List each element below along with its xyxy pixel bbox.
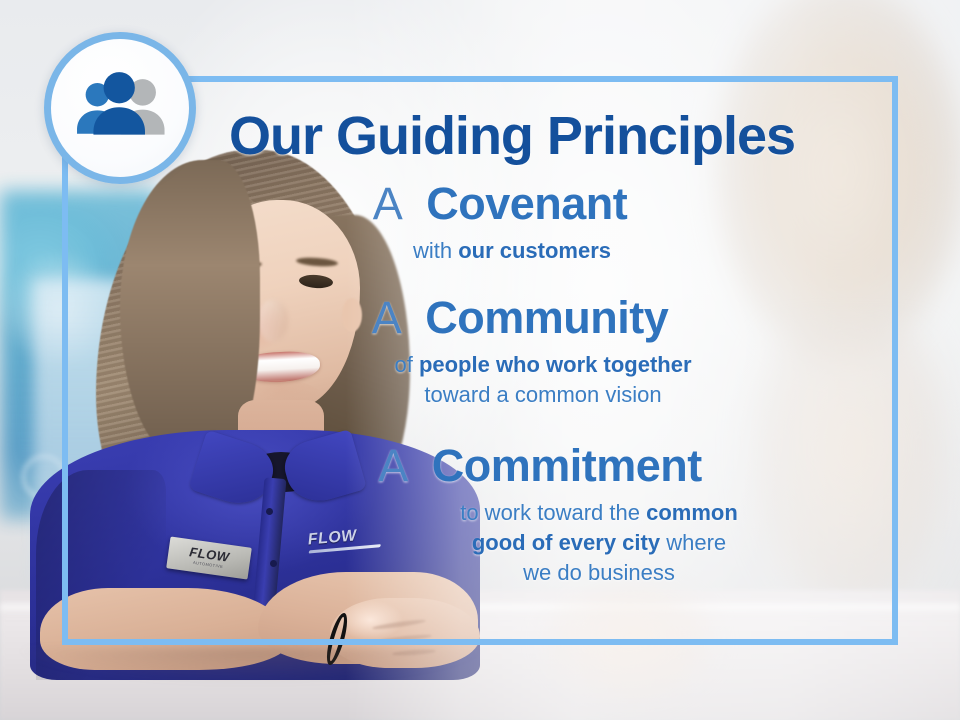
principle-subtext: to work toward the common good of every … (210, 498, 870, 588)
principle-article: A (373, 178, 415, 229)
subtext-part-bold: people who work together (419, 352, 692, 377)
principle-keyword: Community (425, 292, 668, 343)
principle-heading: A Covenant (130, 178, 870, 230)
principle-heading: A Community (170, 292, 870, 344)
principle-keyword: Commitment (432, 440, 702, 491)
page-title: Our Guiding Principles (154, 106, 870, 166)
principle-subtext: of people who work together toward a com… (170, 350, 870, 410)
subtext-part: we do business (523, 560, 675, 585)
subtext-part-bold: common (646, 500, 738, 525)
subtext-part-bold: good of every city (472, 530, 660, 555)
subtext-part: of (394, 352, 418, 377)
principle-heading: A Commitment (210, 440, 870, 492)
subtext-part-bold: our customers (458, 238, 611, 263)
subtext-part: toward a common vision (424, 382, 661, 407)
principle-community: A Community of people who work together … (90, 292, 870, 410)
guiding-principles-poster: FLOW AUTOMOTIVE FLOW (0, 0, 960, 720)
principle-subtext-line: we do business (328, 558, 870, 588)
principle-subtext-line: to work toward the common (328, 498, 870, 528)
principle-article: A (372, 292, 414, 343)
principle-subtext-line: with our customers (154, 236, 870, 266)
principle-commitment: A Commitment to work toward the common g… (90, 440, 870, 588)
principle-covenant: A Covenant with our customers (90, 178, 870, 266)
principle-subtext-line: toward a common vision (216, 380, 870, 410)
poster-content: Our Guiding Principles A Covenant with o… (62, 76, 898, 645)
principle-article: A (378, 440, 420, 491)
principle-subtext-line: of people who work together (216, 350, 870, 380)
principle-subtext: with our customers (130, 236, 870, 266)
subtext-part: to work toward the (460, 500, 646, 525)
subtext-part: with (413, 238, 458, 263)
principle-subtext-line: good of every city where (328, 528, 870, 558)
principle-keyword: Covenant (426, 178, 627, 229)
subtext-part: where (660, 530, 726, 555)
